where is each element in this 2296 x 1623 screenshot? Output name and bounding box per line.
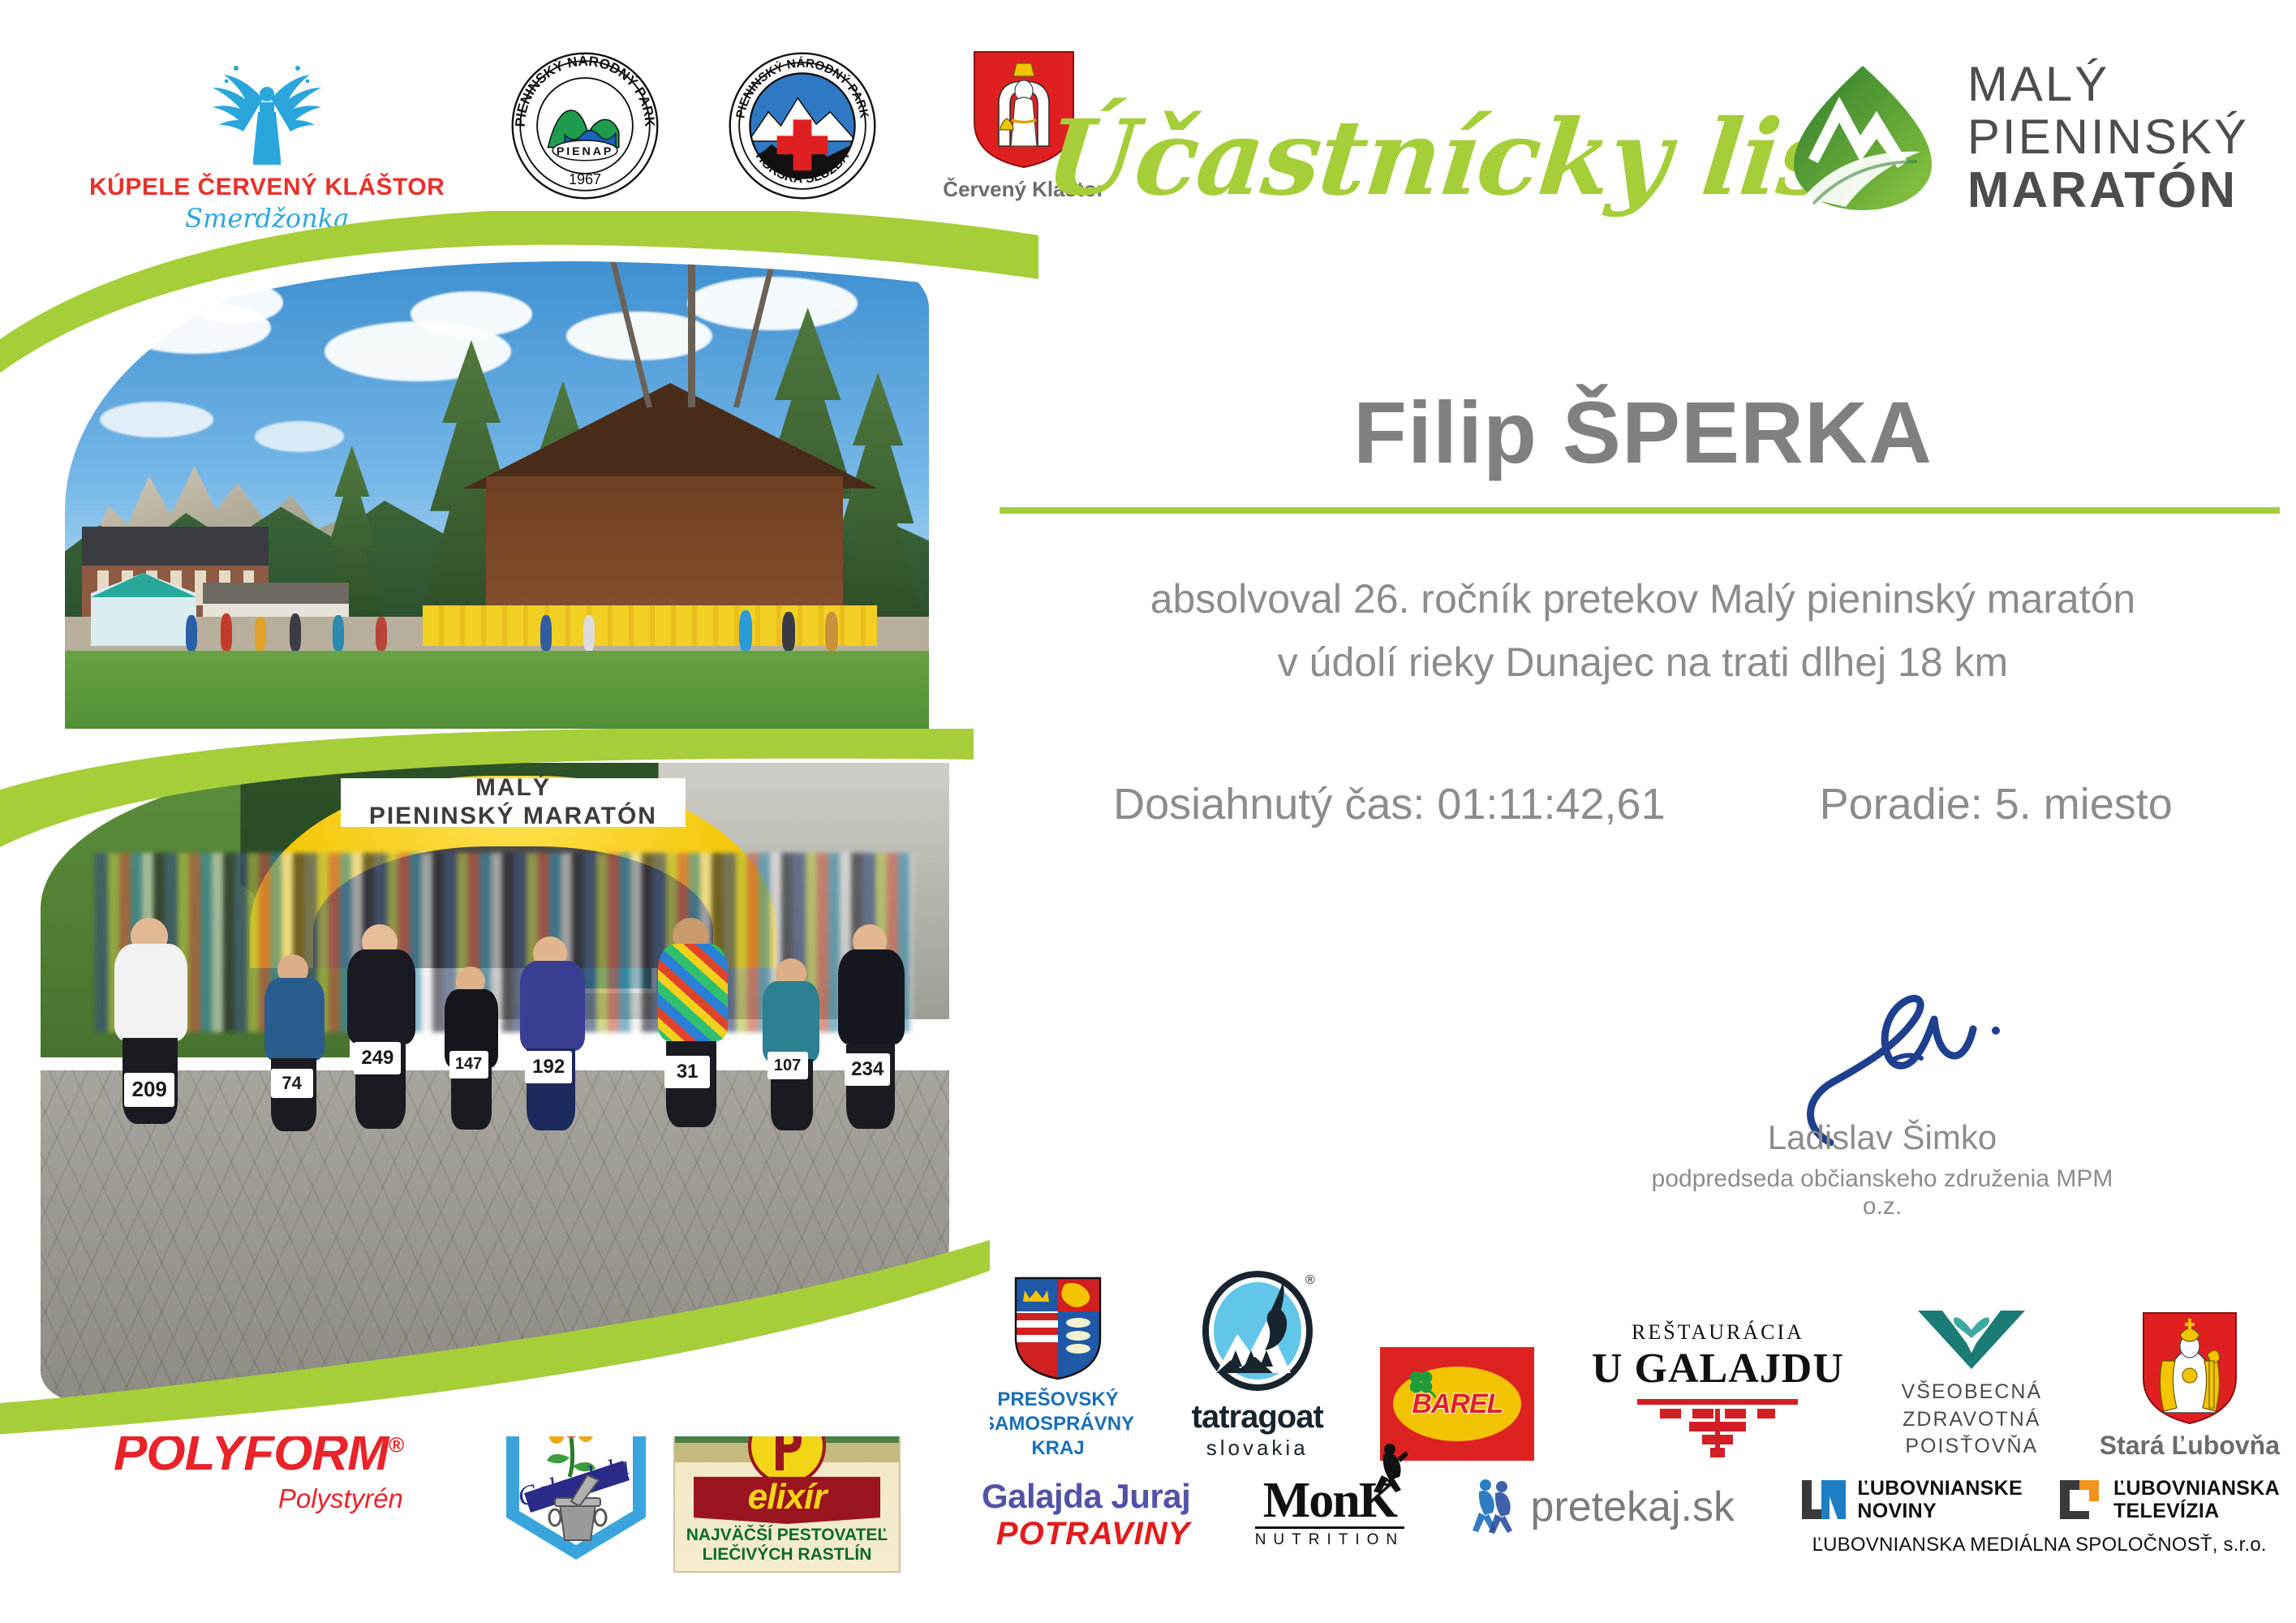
photo-race-start: MALÝ PIENINSKÝ MARATÓN 209 bbox=[41, 763, 949, 1404]
sponsor-u-galajdu: REŠTAURÁCIA U GALAJDU bbox=[1592, 1320, 1844, 1461]
runners-icon bbox=[1469, 1477, 1520, 1537]
ln-mark-icon bbox=[1799, 1477, 1849, 1522]
certificate-body: absolvoval 26. ročník pretekov Malý pien… bbox=[998, 568, 2288, 694]
agrokarpaty-ribbon: elixír bbox=[694, 1470, 880, 1524]
pienap-seal-icon: PIENINSKÝ NÁRODNÝ PARK PIENAP 1967 bbox=[508, 49, 662, 203]
galajdu-top: REŠTAURÁCIA bbox=[1632, 1320, 1804, 1345]
runner: 147 bbox=[432, 952, 513, 1199]
arch-banner-line1: MALÝ bbox=[475, 774, 551, 803]
mpm-brand-logo: MALÝ PIENINSKÝ MARATÓN bbox=[1786, 58, 2249, 218]
ltv-text: ĽUBOVNIANSKA TELEVÍZIA bbox=[2113, 1477, 2280, 1522]
sponsor-presovsky-samospravny-kraj: PREŠOVSKÝ SAMOSPRÁVNY KRAJ bbox=[982, 1276, 1134, 1461]
agrokarpaty-badge-icon bbox=[748, 1407, 826, 1485]
sponsor-tatragoat: ® tatragoat slovakia bbox=[1192, 1269, 1323, 1461]
photo-collage: MALÝ PIENINSKÝ MARATÓN 209 bbox=[0, 243, 957, 1461]
psk-coat-of-arms-icon bbox=[1013, 1276, 1103, 1381]
arch-banner: MALÝ PIENINSKÝ MARATÓN bbox=[341, 778, 686, 827]
logo-horska-sluzba: PIENINSKÝ NÁRODNÝ PARK HORSKÁ SLUŽBA bbox=[725, 49, 879, 203]
tatragoat-sub: slovakia bbox=[1206, 1436, 1309, 1461]
yellow-chairs bbox=[423, 605, 877, 646]
polyform-sub: Polystyrén bbox=[114, 1483, 403, 1514]
logo-kupele-cerveny-klastor: KÚPELE ČERVENÝ KLÁŠTOR Smerdžonka bbox=[89, 49, 445, 234]
elixir-brand: elixír bbox=[748, 1477, 827, 1518]
pretekaj-name: pretekaj.sk bbox=[1531, 1483, 1735, 1531]
sponsor-galajda-juraj: Galajda Juraj POTRAVINY bbox=[982, 1477, 1190, 1552]
result-row: Dosiahnutý čas: 01:11:42,61 Poradie: 5. … bbox=[998, 779, 2288, 829]
sponsor-stara-lubovna: Stará Ľubovňa bbox=[2100, 1311, 2280, 1461]
signature-block: Ladislav Šimko podpredseda občianskeho z… bbox=[1631, 998, 2134, 1220]
header-logo-strip: KÚPELE ČERVENÝ KLÁŠTOR Smerdžonka PIENIN… bbox=[89, 49, 1105, 234]
runner: 234 bbox=[822, 919, 921, 1199]
participant-name: Filip ŠPERKA bbox=[998, 381, 2288, 483]
sponsor-pretekaj-sk: pretekaj.sk bbox=[1469, 1477, 1735, 1537]
galajda-line1: Galajda Juraj bbox=[982, 1477, 1190, 1516]
kck-line1: KÚPELE ČERVENÝ KLÁŠTOR bbox=[89, 174, 445, 201]
runner: 192 bbox=[504, 925, 601, 1199]
agrokarpaty-bottom-2: LIEČIVÝCH RASTLÍN bbox=[675, 1545, 899, 1565]
bib-number: 107 bbox=[767, 1052, 808, 1079]
clover-icon bbox=[1406, 1368, 1437, 1399]
sponsor-calendula: Calendula bbox=[495, 1380, 657, 1566]
sponsor-row-secondary: Galajda Juraj POTRAVINY MonK NUTRITION bbox=[982, 1477, 2280, 1607]
signer-name: Ladislav Šimko bbox=[1631, 1118, 2134, 1157]
barel-oval: BAREL bbox=[1393, 1367, 1521, 1441]
runner: 31 bbox=[640, 912, 742, 1199]
media-brands-row: ĽUBOVNIANSKE NOVINY ĽUBOVNIANSKA TELEVÍZ… bbox=[1799, 1477, 2280, 1522]
certificate-page: KÚPELE ČERVENÝ KLÁŠTOR Smerdžonka PIENIN… bbox=[0, 0, 2296, 1623]
sponsor-row-primary: PREŠOVSKÝ SAMOSPRÁVNY KRAJ ® tatragoat s… bbox=[982, 1233, 2280, 1461]
svg-text:1967: 1967 bbox=[569, 171, 601, 187]
media-company-footer: ĽUBOVNIANSKA MEDIÁLNA SPOLOČNOSŤ, s.r.o. bbox=[1812, 1534, 2267, 1556]
brand-lubovnianska-televizia: ĽUBOVNIANSKA TELEVÍZIA bbox=[2055, 1477, 2280, 1522]
signer-role: podpredseda občianskeho združenia MPM o.… bbox=[1631, 1165, 2134, 1220]
runner-pack: 209 74 249 bbox=[41, 865, 949, 1199]
bib-number: 249 bbox=[354, 1042, 401, 1074]
mpm-line-3: MARATÓN bbox=[1967, 164, 2249, 218]
mountain-leaf-icon bbox=[1786, 61, 1940, 215]
polyform-name: POLYFORM® bbox=[114, 1424, 403, 1482]
agrokarpaty-bottom-1: NAJVÄČŠÍ PESTOVATEĽ bbox=[675, 1526, 899, 1545]
runner: 249 bbox=[331, 919, 432, 1199]
galajda-line2: POTRAVINY bbox=[996, 1516, 1190, 1552]
psk-caption: PREŠOVSKÝ SAMOSPRÁVNY KRAJ bbox=[982, 1388, 1134, 1461]
body-line-2: v údolí rieky Dunajec na trati dlhej 18 … bbox=[998, 631, 2288, 695]
mountain-rescue-seal-icon: PIENINSKÝ NÁRODNÝ PARK HORSKÁ SLUŽBA bbox=[725, 49, 879, 203]
registered-mark: ® bbox=[1305, 1273, 1315, 1287]
bib-number: 31 bbox=[664, 1056, 710, 1088]
brand-lubovnianske-noviny: ĽUBOVNIANSKE NOVINY bbox=[1799, 1477, 2023, 1522]
sponsor-monk-nutrition: MonK NUTRITION bbox=[1255, 1477, 1404, 1549]
photo-amphitheatre bbox=[65, 252, 929, 751]
stara-lubovna-label: Stará Ľubovňa bbox=[2100, 1431, 2280, 1461]
sponsor-lubovnianska-medialna: ĽUBOVNIANSKE NOVINY ĽUBOVNIANSKA TELEVÍZ… bbox=[1799, 1477, 2280, 1556]
kck-line2: Smerdžonka bbox=[185, 203, 349, 234]
tatragoat-icon: ® bbox=[1197, 1269, 1318, 1399]
svg-text:PIENAP: PIENAP bbox=[557, 145, 613, 158]
folk-ornament-icon bbox=[1632, 1396, 1803, 1461]
spa-angel-icon bbox=[178, 49, 356, 170]
sponsor-vseobecna-zdravotna-poistovna: VŠEOBECNÁ ZDRAVOTNÁ POISŤOVŇA bbox=[1902, 1302, 2043, 1461]
sponsor-polyform: POLYFORM® Polystyrén bbox=[114, 1424, 403, 1514]
bib-number: 192 bbox=[525, 1051, 572, 1083]
running-monk-icon bbox=[1365, 1443, 1408, 1493]
runner: 209 bbox=[95, 912, 209, 1199]
bib-number: 74 bbox=[271, 1069, 313, 1098]
monk-sub: NUTRITION bbox=[1255, 1526, 1404, 1549]
runner: 74 bbox=[250, 939, 339, 1199]
logo-pienap: PIENINSKÝ NÁRODNÝ PARK PIENAP 1967 bbox=[508, 49, 662, 203]
bib-number: 209 bbox=[124, 1073, 174, 1107]
bib-number: 147 bbox=[449, 1051, 488, 1078]
final-rank: Poradie: 5. miesto bbox=[1820, 779, 2173, 829]
bib-number: 234 bbox=[845, 1053, 890, 1086]
vzp-caption: VŠEOBECNÁ ZDRAVOTNÁ POISŤOVŇA bbox=[1902, 1379, 2043, 1461]
vzp-logo-icon bbox=[1915, 1302, 2028, 1371]
tatragoat-name: tatragoat bbox=[1192, 1399, 1323, 1436]
mpm-line-1: MALÝ bbox=[1967, 58, 2249, 111]
ln-text: ĽUBOVNIANSKE NOVINY bbox=[1857, 1477, 2023, 1522]
runner: 107 bbox=[750, 945, 834, 1199]
stara-lubovna-coat-of-arms-icon bbox=[2141, 1311, 2238, 1426]
green-divider-rule bbox=[1000, 507, 2280, 514]
ltv-mark-icon bbox=[2055, 1477, 2105, 1522]
lawn bbox=[65, 641, 929, 751]
mpm-line-2: PIENINSKÝ bbox=[1967, 111, 2249, 164]
body-line-1: absolvoval 26. ročník pretekov Malý pien… bbox=[998, 568, 2288, 631]
polyform-registered-mark: ® bbox=[389, 1432, 403, 1457]
finish-time: Dosiahnutý čas: 01:11:42,61 bbox=[1113, 779, 1665, 829]
galajdu-name: U GALAJDU bbox=[1592, 1345, 1844, 1393]
page-title: Účastnícky list bbox=[1040, 97, 1888, 219]
arch-banner-line2: PIENINSKÝ MARATÓN bbox=[369, 803, 657, 831]
